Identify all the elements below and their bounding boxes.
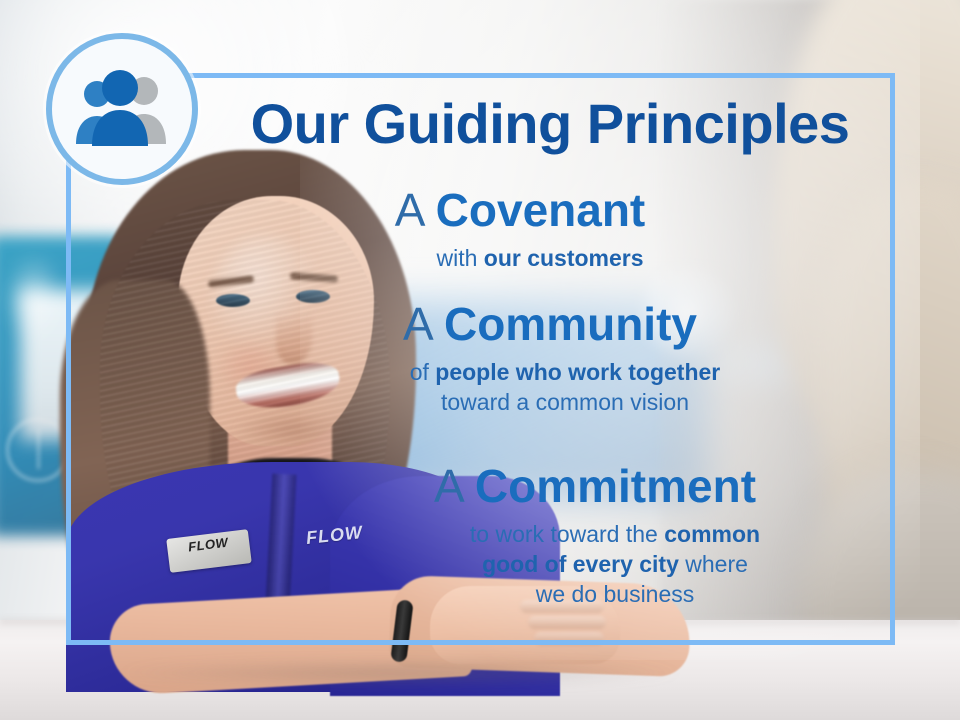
subtext-line: good of every city where xyxy=(340,549,890,579)
subtext-line: of people who work together xyxy=(260,357,870,387)
principle-article-2: A xyxy=(403,298,431,350)
promo-graphic: FLOW FLOW Our xyxy=(0,0,960,720)
principle-block-commitment: A Commitment to work toward the commongo… xyxy=(210,462,890,610)
finger-2 xyxy=(528,616,606,629)
subtext-emphasis: our customers xyxy=(484,245,644,271)
subtext-plain: toward a common vision xyxy=(441,389,689,415)
subtext-emphasis: people who work together xyxy=(435,359,720,385)
subtext-line: we do business xyxy=(340,579,890,609)
page-title: Our Guiding Principles xyxy=(220,96,880,152)
principle-article-1: A xyxy=(395,184,423,236)
principle-subtext-2: of people who work togethertoward a comm… xyxy=(190,357,870,418)
subtext-emphasis: good of every city xyxy=(482,551,679,577)
principle-word-1: Covenant xyxy=(436,184,646,236)
principle-block-community: A Community of people who work togethert… xyxy=(190,300,870,417)
subtext-line: to work toward the common xyxy=(340,519,890,549)
people-group-badge xyxy=(46,33,198,185)
subtext-plain: we do business xyxy=(536,581,695,607)
principle-subtext-1: with our customers xyxy=(180,243,860,273)
subtext-line: toward a common vision xyxy=(260,387,870,417)
subtext-plain: where xyxy=(679,551,748,577)
finger-3 xyxy=(534,632,604,645)
principle-heading-3: A Commitment xyxy=(210,462,890,511)
principle-subtext-3: to work toward the commongood of every c… xyxy=(210,519,890,610)
subtext-plain: to work toward the xyxy=(470,521,664,547)
subtext-emphasis: common xyxy=(664,521,760,547)
principle-block-covenant: A Covenant with our customers xyxy=(180,186,860,273)
subtext-line: with our customers xyxy=(220,243,860,273)
principle-word-3: Commitment xyxy=(475,460,756,512)
principle-word-2: Community xyxy=(444,298,697,350)
people-group-icon xyxy=(70,70,174,148)
subtext-plain: with xyxy=(436,245,483,271)
principle-article-3: A xyxy=(434,460,462,512)
principle-heading-2: A Community xyxy=(190,300,870,349)
arm-shadow xyxy=(120,660,680,686)
subtext-plain: of xyxy=(410,359,436,385)
principle-heading-1: A Covenant xyxy=(180,186,860,235)
